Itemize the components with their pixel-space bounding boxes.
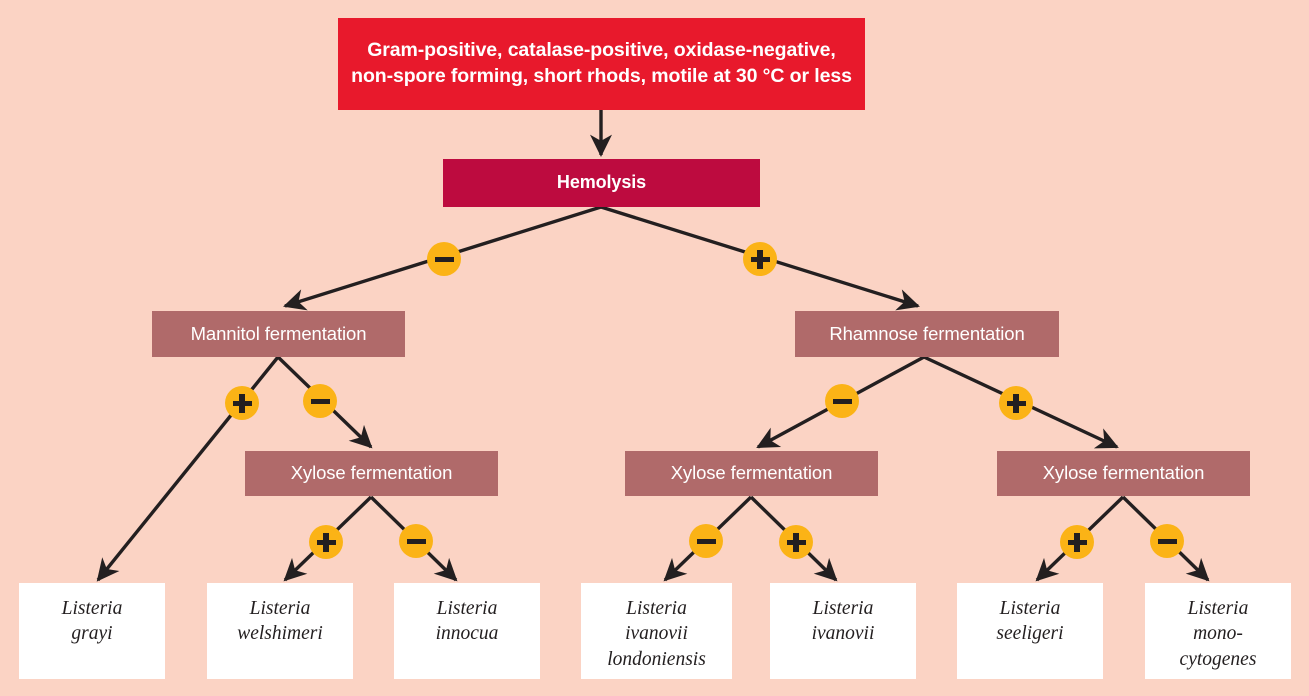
badge-xylose-right-positive [1060, 525, 1094, 559]
badge-xylose-left-negative [399, 524, 433, 558]
leaf-line-1: Listeria [607, 596, 706, 621]
badge-mannitol-positive [225, 386, 259, 420]
badge-xylose-middle-positive [779, 525, 813, 559]
badge-hemolysis-positive [743, 242, 777, 276]
leaf-line-2: grayi [62, 621, 123, 646]
leaf-line-3: londoniensis [607, 647, 706, 672]
leaf-line-1: Listeria [812, 596, 875, 621]
plus-icon [787, 533, 806, 552]
diagram-canvas: Gram-positive, catalase-positive, oxidas… [0, 0, 1309, 696]
leaf-listeria-ivanovii: Listeria ivanovii [770, 583, 916, 679]
leaf-listeria-grayi: Listeria grayi [19, 583, 165, 679]
plus-icon [751, 250, 770, 269]
badge-rhamnose-negative [825, 384, 859, 418]
leaf-line-2: seeligeri [996, 621, 1063, 646]
minus-icon [697, 532, 716, 551]
root-line-1: Gram-positive, catalase-positive, oxidas… [351, 38, 852, 64]
badge-xylose-left-positive [309, 525, 343, 559]
leaf-listeria-monocytogenes: Listeria mono- cytogenes [1145, 583, 1291, 679]
minus-icon [1158, 532, 1177, 551]
node-test-xylose-right: Xylose fermentation [997, 451, 1250, 496]
minus-icon [435, 250, 454, 269]
plus-icon [317, 533, 336, 552]
leaf-line-3: cytogenes [1180, 647, 1257, 672]
badge-xylose-right-negative [1150, 524, 1184, 558]
leaf-line-2: ivanovii [812, 621, 875, 646]
leaf-line-2: ivanovii [607, 621, 706, 646]
hemolysis-label: Hemolysis [557, 171, 646, 195]
badge-rhamnose-positive [999, 386, 1033, 420]
badge-xylose-middle-negative [689, 524, 723, 558]
leaf-listeria-ivanovii-londoniensis: Listeria ivanovii londoniensis [581, 583, 732, 679]
mannitol-label: Mannitol fermentation [191, 322, 367, 346]
minus-icon [407, 532, 426, 551]
leaf-line-2: mono- [1180, 621, 1257, 646]
plus-icon [1007, 394, 1026, 413]
leaf-listeria-innocua: Listeria innocua [394, 583, 540, 679]
leaf-listeria-welshimeri: Listeria welshimeri [207, 583, 353, 679]
badge-hemolysis-negative [427, 242, 461, 276]
leaf-line-1: Listeria [996, 596, 1063, 621]
xylose-middle-label: Xylose fermentation [671, 461, 833, 485]
node-test-xylose-left: Xylose fermentation [245, 451, 498, 496]
rhamnose-label: Rhamnose fermentation [829, 322, 1024, 346]
minus-icon [833, 392, 852, 411]
leaf-line-1: Listeria [62, 596, 123, 621]
leaf-line-1: Listeria [237, 596, 323, 621]
xylose-right-label: Xylose fermentation [1043, 461, 1205, 485]
xylose-left-label: Xylose fermentation [291, 461, 453, 485]
node-test-rhamnose: Rhamnose fermentation [795, 311, 1059, 357]
badge-mannitol-negative [303, 384, 337, 418]
minus-icon [311, 392, 330, 411]
plus-icon [1068, 533, 1087, 552]
leaf-line-2: innocua [436, 621, 499, 646]
leaf-line-1: Listeria [436, 596, 499, 621]
root-line-2: non-spore forming, short rhods, motile a… [351, 64, 852, 90]
leaf-line-2: welshimeri [237, 621, 323, 646]
plus-icon [233, 394, 252, 413]
leaf-listeria-seeligeri: Listeria seeligeri [957, 583, 1103, 679]
node-test-mannitol: Mannitol fermentation [152, 311, 405, 357]
node-test-xylose-middle: Xylose fermentation [625, 451, 878, 496]
node-root-criteria: Gram-positive, catalase-positive, oxidas… [338, 18, 865, 110]
leaf-line-1: Listeria [1180, 596, 1257, 621]
node-test-hemolysis: Hemolysis [443, 159, 760, 207]
